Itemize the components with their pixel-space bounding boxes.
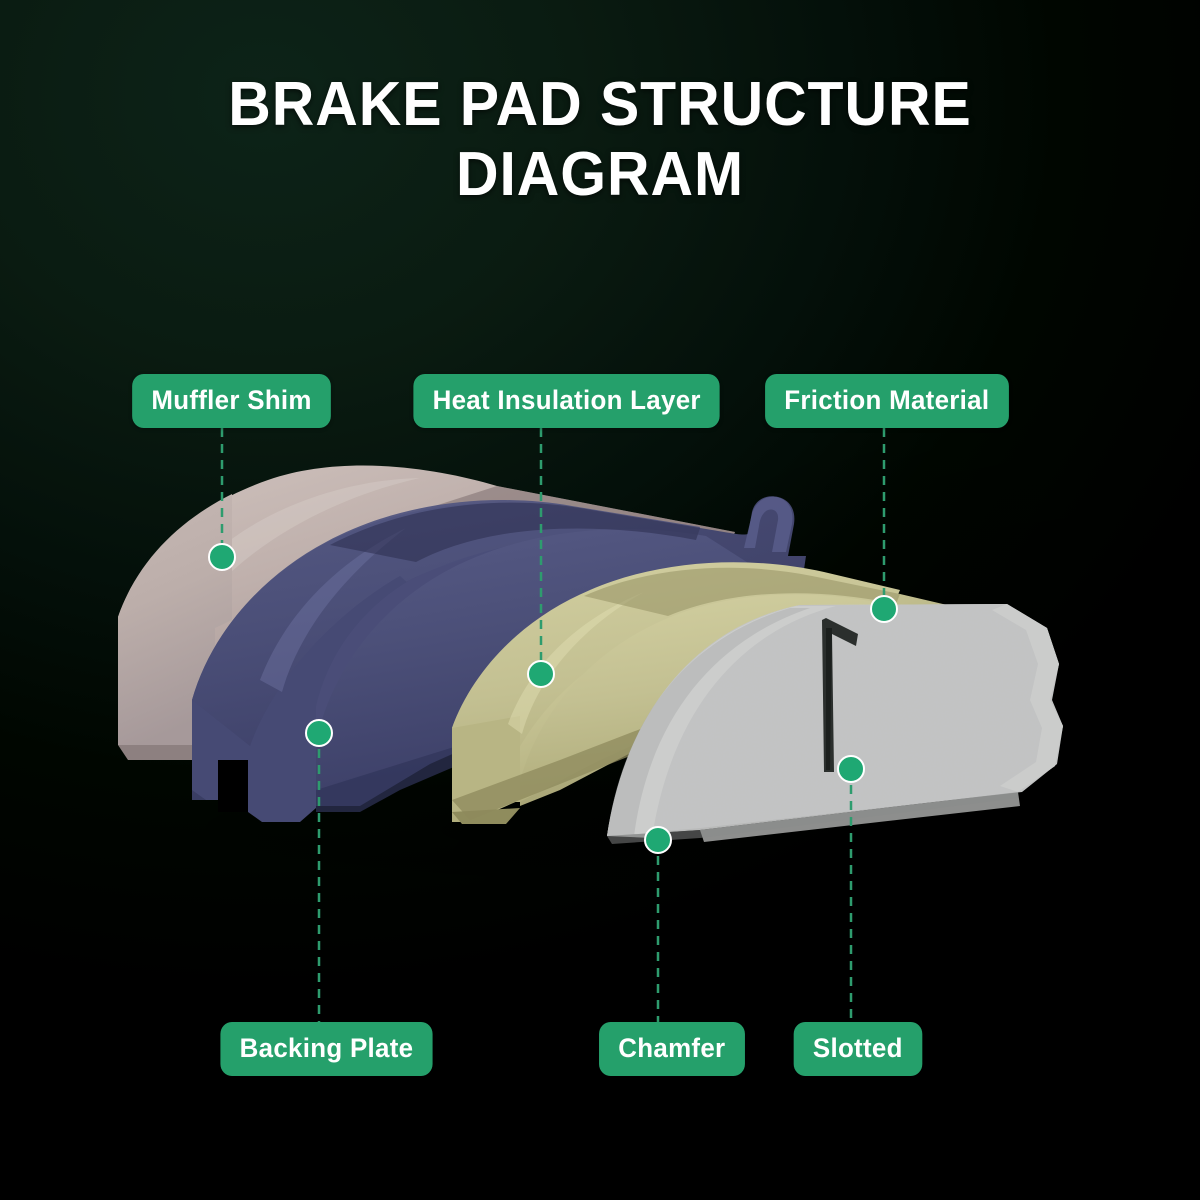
callout-badge-muffler-shim[interactable]: Muffler Shim: [132, 374, 331, 428]
callout-label-chamfer: Chamfer: [618, 1033, 725, 1063]
callout-dot-friction-material[interactable]: [871, 596, 897, 622]
callout-badge-friction-material[interactable]: Friction Material: [765, 374, 1008, 428]
callout-label-backing-plate: Backing Plate: [240, 1033, 414, 1063]
callout-dot-muffler-shim[interactable]: [209, 544, 235, 570]
callout-dot-backing-plate[interactable]: [306, 720, 332, 746]
callout-label-slotted: Slotted: [813, 1033, 903, 1063]
callout-label-muffler-shim: Muffler Shim: [151, 385, 311, 415]
callout-badge-slotted[interactable]: Slotted: [794, 1022, 922, 1076]
callout-label-friction-material: Friction Material: [784, 385, 989, 415]
callout-badge-backing-plate[interactable]: Backing Plate: [220, 1022, 432, 1076]
diagram-canvas: BRAKE PAD STRUCTURE DIAGRAM Muffler Shim…: [0, 0, 1200, 1200]
callout-dot-heat-insulation-layer[interactable]: [528, 661, 554, 687]
page-title: BRAKE PAD STRUCTURE DIAGRAM: [0, 74, 1200, 206]
callout-dot-chamfer[interactable]: [645, 827, 671, 853]
callout-label-heat-insulation-layer: Heat Insulation Layer: [433, 385, 701, 415]
callout-dot-slotted[interactable]: [838, 756, 864, 782]
title-line-2: DIAGRAM: [30, 144, 1170, 206]
title-line-1: BRAKE PAD STRUCTURE: [30, 74, 1170, 136]
callout-badge-chamfer[interactable]: Chamfer: [599, 1022, 745, 1076]
callout-badge-heat-insulation-layer[interactable]: Heat Insulation Layer: [413, 374, 720, 428]
